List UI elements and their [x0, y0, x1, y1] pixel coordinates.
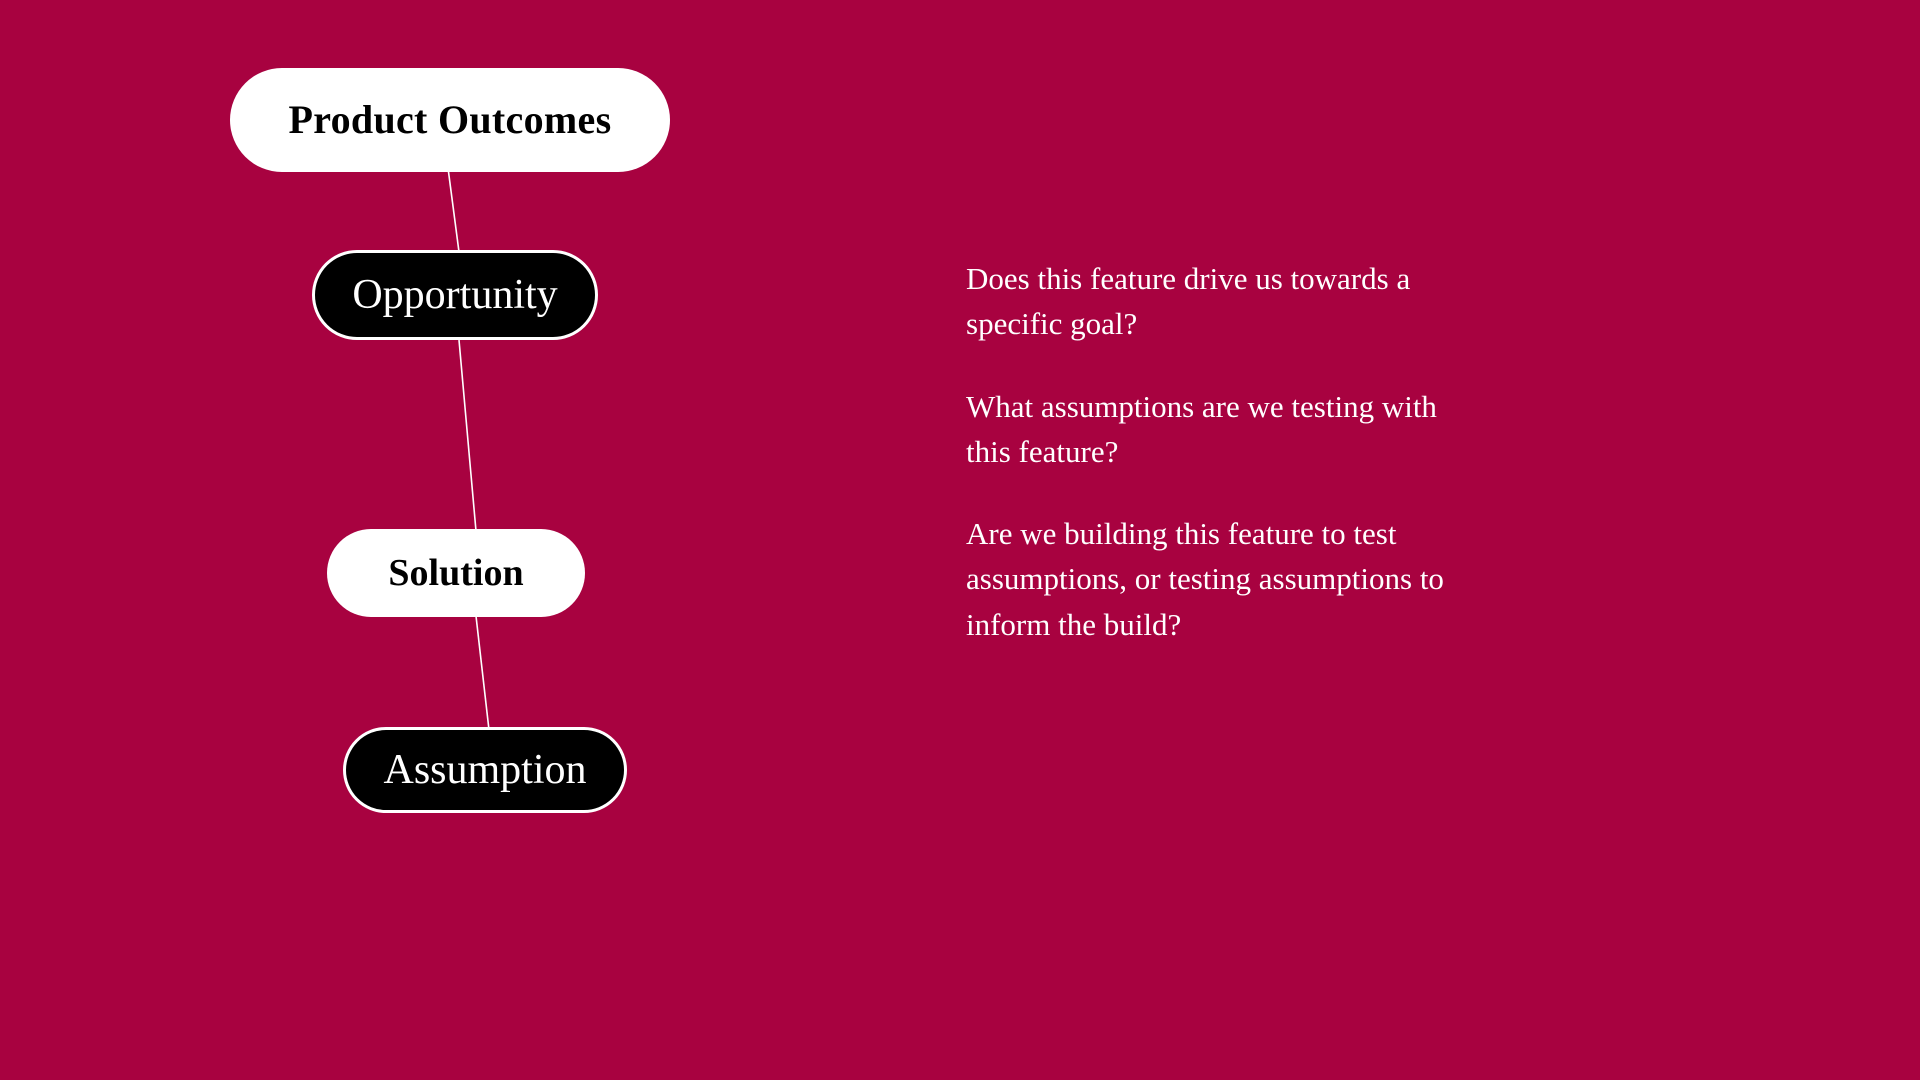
node-assumption-label: Assumption [383, 749, 586, 791]
node-opportunity-label: Opportunity [352, 274, 557, 316]
node-solution-label: Solution [388, 554, 523, 592]
question-item: Are we building this feature to test ass… [966, 511, 1486, 647]
node-opportunity[interactable]: Opportunity [312, 250, 598, 340]
node-solution[interactable]: Solution [327, 529, 585, 617]
question-item: Does this feature drive us towards a spe… [966, 256, 1486, 347]
connector-product-outcomes-to-opportunity [448, 168, 459, 252]
node-product-outcomes-label: Product Outcomes [289, 100, 612, 140]
node-product-outcomes[interactable]: Product Outcomes [230, 68, 670, 172]
connector-solution-to-assumption [476, 616, 489, 730]
connector-opportunity-to-solution [459, 340, 476, 531]
node-assumption[interactable]: Assumption [343, 727, 627, 813]
slide-canvas: Product Outcomes Opportunity Solution As… [0, 0, 1920, 1080]
question-item: What assumptions are we testing with thi… [966, 384, 1486, 475]
questions-column: Does this feature drive us towards a spe… [966, 256, 1486, 647]
